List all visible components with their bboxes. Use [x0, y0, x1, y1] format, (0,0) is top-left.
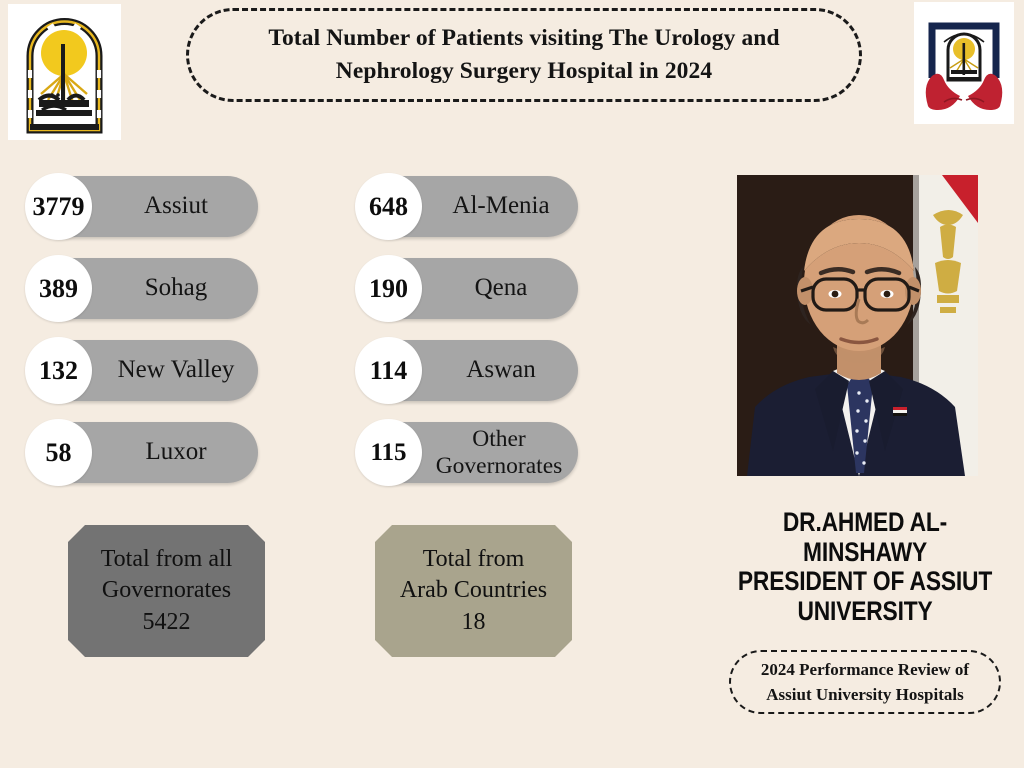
stat-pill-luxor[interactable]: 58 Luxor [32, 422, 258, 483]
stat-value-sohag: 389 [25, 255, 92, 322]
stat-value-other-governorates: 115 [355, 419, 422, 486]
total-arab-line1: Total from [423, 544, 525, 575]
total-arab-value: 18 [462, 607, 486, 638]
official-portrait-photo [737, 175, 978, 476]
stat-label-other-governorates: Other Governorates [420, 426, 578, 479]
stat-label-sohag: Sohag [94, 275, 258, 302]
total-arab-countries-box[interactable]: Total from Arab Countries 18 [375, 525, 572, 657]
stat-value-al-menia: 648 [355, 173, 422, 240]
stat-pill-new-valley[interactable]: 132 New Valley [32, 340, 258, 401]
stat-value-aswan: 114 [355, 337, 422, 404]
total-governorates-value: 5422 [143, 607, 191, 638]
report-caption-line2: Assiut University Hospitals [761, 682, 969, 707]
report-caption-box: 2024 Performance Review of Assiut Univer… [729, 650, 1001, 714]
report-caption-line1: 2024 Performance Review of [761, 657, 969, 682]
stat-pill-other-governorates[interactable]: 115 Other Governorates [362, 422, 578, 483]
stat-label-luxor: Luxor [94, 439, 258, 466]
assiut-university-hospitals-logo [914, 2, 1014, 124]
stat-pill-aswan[interactable]: 114 Aswan [362, 340, 578, 401]
official-title-line3: UNIVERSITY [733, 597, 996, 627]
stat-label-aswan: Aswan [424, 357, 578, 384]
assiut-university-logo [8, 4, 121, 140]
stat-value-qena: 190 [355, 255, 422, 322]
page-title: Total Number of Patients visiting The Ur… [189, 22, 859, 89]
stat-label-other-line1: Other [420, 426, 578, 452]
stat-label-qena: Qena [424, 275, 578, 302]
total-all-governorates-box[interactable]: Total from all Governorates 5422 [68, 525, 265, 657]
total-arab-line2: Arab Countries [400, 575, 547, 606]
official-name-block: DR.AHMED AL-MINSHAWY PRESIDENT OF ASSIUT… [733, 508, 996, 627]
stat-value-luxor: 58 [25, 419, 92, 486]
stat-value-assiut: 3779 [25, 173, 92, 240]
official-name-line1: DR.AHMED AL-MINSHAWY [733, 508, 996, 567]
stat-pill-qena[interactable]: 190 Qena [362, 258, 578, 319]
official-title-line2: PRESIDENT OF ASSIUT [733, 567, 996, 597]
page-title-box: Total Number of Patients visiting The Ur… [186, 8, 862, 102]
stat-label-other-line2: Governorates [420, 453, 578, 479]
total-governorates-line2: Governorates [102, 575, 231, 606]
stat-pill-al-menia[interactable]: 648 Al-Menia [362, 176, 578, 237]
stat-pill-assiut[interactable]: 3779 Assiut [32, 176, 258, 237]
stat-label-assiut: Assiut [94, 193, 258, 220]
report-caption: 2024 Performance Review of Assiut Univer… [751, 657, 979, 707]
total-governorates-line1: Total from all [101, 544, 233, 575]
stat-label-new-valley: New Valley [94, 357, 258, 384]
stat-pill-sohag[interactable]: 389 Sohag [32, 258, 258, 319]
stat-value-new-valley: 132 [25, 337, 92, 404]
stat-label-al-menia: Al-Menia [424, 193, 578, 220]
